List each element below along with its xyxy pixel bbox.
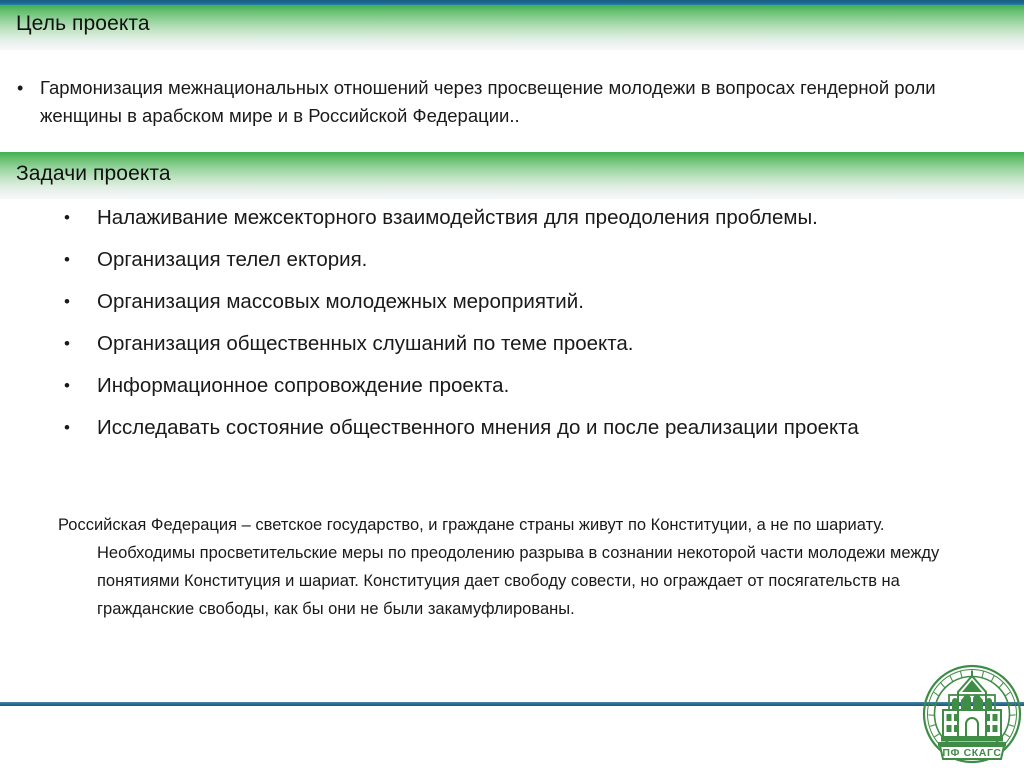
list-item: • Налаживание межсекторного взаимодейств… xyxy=(0,201,1024,234)
section-header-goal: Цель проекта xyxy=(0,0,1024,50)
bullet-icon: • xyxy=(64,243,70,276)
pf-skags-emblem-icon: ПФ СКАГС xyxy=(922,662,1022,766)
list-item-label: Исследавать состояние общественного мнен… xyxy=(97,416,859,439)
page-title-tasks: Задачи проекта xyxy=(16,162,171,186)
list-item: • Информационное сопровождение проекта. xyxy=(0,369,1024,402)
list-item-label: Гармонизация межнациональных отношений ч… xyxy=(40,77,936,126)
bullet-icon: • xyxy=(17,74,23,102)
closing-paragraph: Российская Федерация – светское государс… xyxy=(58,511,975,623)
tasks-bullet-list: • Налаживание межсекторного взаимодейств… xyxy=(0,201,1024,453)
list-item: • Гармонизация межнациональных отношений… xyxy=(0,74,1024,130)
closing-paragraph-text: Российская Федерация – светское государс… xyxy=(58,516,939,618)
page-title-goal: Цель проекта xyxy=(16,12,150,36)
goal-bullet-list: • Гармонизация межнациональных отношений… xyxy=(0,74,1024,130)
svg-text:ПФ СКАГС: ПФ СКАГС xyxy=(942,747,1001,759)
bullet-icon: • xyxy=(64,369,70,402)
header-gradient-fill xyxy=(0,5,1024,50)
bullet-icon: • xyxy=(64,327,70,360)
bullet-icon: • xyxy=(64,201,70,234)
section-header-tasks: Задачи проекта xyxy=(0,152,1024,199)
bullet-icon: • xyxy=(64,411,70,444)
list-item-label: Организация общественных слушаний по тем… xyxy=(97,332,633,355)
list-item-label: Налаживание межсекторного взаимодействия… xyxy=(97,206,818,229)
list-item-label: Организация телел ектория. xyxy=(97,248,367,271)
slide-canvas: Цель проекта • Гармонизация межнациональ… xyxy=(0,0,1024,768)
list-item: • Исследавать состояние общественного мн… xyxy=(0,411,1024,444)
list-item: • Организация массовых молодежных меропр… xyxy=(0,285,1024,318)
list-item-label: Информационное сопровождение проекта. xyxy=(97,374,509,397)
footer-divider xyxy=(0,702,1024,706)
bullet-icon: • xyxy=(64,285,70,318)
list-item: • Организация телел ектория. xyxy=(0,243,1024,276)
list-item-label: Организация массовых молодежных мероприя… xyxy=(97,290,584,313)
list-item: • Организация общественных слушаний по т… xyxy=(0,327,1024,360)
